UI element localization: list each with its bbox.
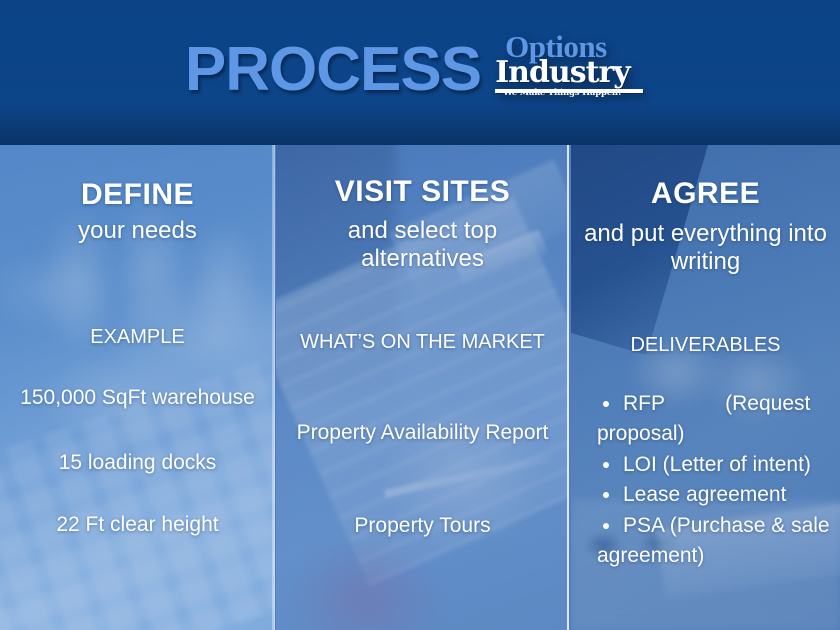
agree-label: DELIVERABLES (579, 333, 832, 357)
list-item: Lease agreement (597, 480, 840, 510)
visit-sites-item-2: Property Tours (286, 513, 559, 538)
deliverable-4-line-2: agreement) (597, 541, 840, 571)
bullet-icon (603, 462, 609, 468)
define-content: DEFINE your needs EXAMPLE 150,000 SqFt w… (0, 145, 275, 630)
list-item: PSA (Purchase & sale agreement) (597, 511, 840, 571)
slide-header: PROCESS Options Industry We Make Things … (0, 0, 840, 145)
deliverable-1-line-2: proposal) (597, 419, 840, 449)
logo-word-industry: Industry (495, 58, 650, 88)
options-industry-logo: Options Industry We Make Things Happen! (495, 31, 655, 109)
list-item: RFP (Request for proposal) (597, 389, 840, 449)
visit-sites-subtitle: and select top alternatives (290, 217, 555, 274)
define-item-1: 150,000 SqFt warehouse (0, 385, 275, 410)
agree-title: AGREE (571, 177, 840, 210)
visit-sites-content: VISIT SITES and select top alternatives … (276, 145, 569, 630)
header-content: PROCESS Options Industry We Make Things … (0, 30, 840, 110)
visit-sites-label: WHAT’S ON THE MARKET (286, 330, 559, 354)
deliverable-2-text: LOI (Letter of intent) (623, 453, 811, 476)
deliverable-1-word-2: (Request (725, 389, 810, 419)
define-item-2: 15 loading docks (0, 450, 275, 475)
bullet-icon (603, 401, 609, 407)
deliverable-1-line-1: RFP (Request for (623, 389, 840, 419)
page-title: PROCESS (185, 39, 481, 101)
process-step-agree: AGREE and put everything into writing DE… (571, 145, 840, 630)
list-item: LOI (Letter of intent) (597, 450, 840, 480)
deliverable-4-line-1: PSA (Purchase & sale (623, 514, 830, 537)
visit-sites-title: VISIT SITES (276, 175, 569, 208)
define-title: DEFINE (0, 178, 275, 211)
visit-sites-item-1: Property Availability Report (286, 420, 559, 445)
bullet-icon (603, 492, 609, 498)
deliverable-1-word-1: RFP (623, 389, 665, 419)
logo-tagline: We Make Things Happen! (503, 88, 621, 98)
agree-content: AGREE and put everything into writing DE… (571, 145, 840, 630)
bullet-icon (603, 523, 609, 529)
deliverable-3-text: Lease agreement (623, 483, 786, 506)
process-columns: DEFINE your needs EXAMPLE 150,000 SqFt w… (0, 145, 840, 630)
process-infographic-slide: PROCESS Options Industry We Make Things … (0, 0, 840, 630)
define-subtitle: your needs (0, 217, 275, 245)
define-label: EXAMPLE (0, 325, 275, 349)
deliverables-list: RFP (Request for proposal) LOI (Letter o… (597, 389, 840, 572)
agree-subtitle: and put everything into writing (579, 220, 832, 277)
define-item-3: 22 Ft clear height (0, 512, 275, 537)
process-step-visit-sites: VISIT SITES and select top alternatives … (276, 145, 569, 630)
process-step-define: DEFINE your needs EXAMPLE 150,000 SqFt w… (0, 145, 275, 630)
